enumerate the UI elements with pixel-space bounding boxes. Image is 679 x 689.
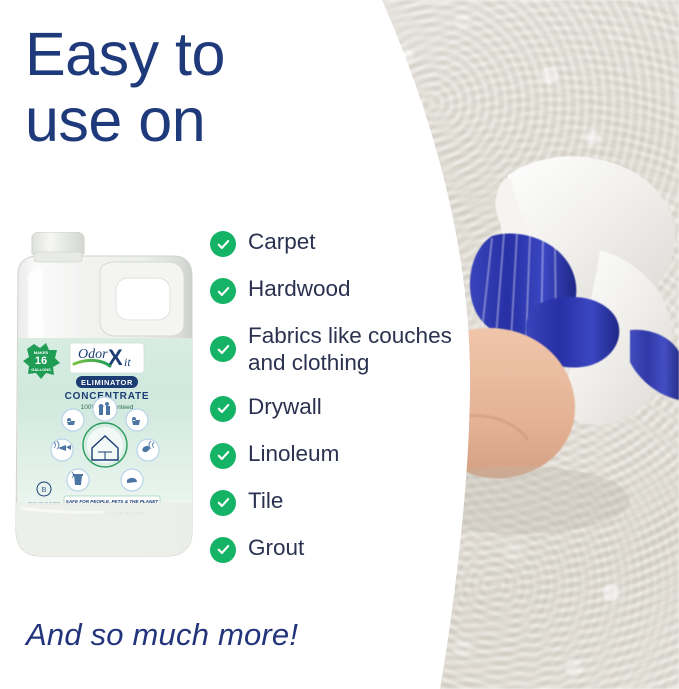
check-circle-icon [210,537,236,563]
list-item: Fabrics like couches and clothing [210,322,500,377]
badge-bottom-text: GALLONS [31,367,51,372]
brand-logo: Odor X it [70,343,144,373]
eliminator-text: ELIMINATOR [81,378,133,387]
list-item-label: Drywall [248,393,322,420]
list-item: Hardwood [210,275,500,304]
headline-line-2: use on [25,88,355,154]
b-mark-icon: B [42,486,47,494]
list-item: Linoleum [210,440,500,469]
list-item: Carpet [210,228,500,257]
brand-it-text: it [124,355,131,369]
list-item-label: Tile [248,487,283,514]
list-item: Drywall [210,393,500,422]
page-title: Easy to use on [25,22,355,154]
list-item-label: Linoleum [248,440,339,467]
badge-number-text: 16 [35,355,47,367]
list-item-label-line-2: and clothing [248,350,369,375]
check-circle-icon [210,490,236,516]
list-item-label: Hardwood [248,275,351,302]
bottle-cap [32,232,84,254]
headline-line-1: Easy to [25,22,355,88]
check-circle-icon [210,231,236,257]
handle-hole [116,278,170,320]
surfaces-list: Carpet Hardwood Fabrics like couches and… [210,228,500,581]
check-circle-icon [210,336,236,362]
tagline: And so much more! [26,617,298,653]
icon-pet [62,409,84,431]
bottle-neck-ring [34,252,82,262]
list-item: Tile [210,487,500,516]
list-item: Grout [210,534,500,563]
list-item-label-line-1: Fabrics like couches [248,323,452,348]
icon-people [93,397,117,421]
list-item-label: Fabrics like couches and clothing [248,322,452,377]
product-feature-graphic: Easy to use on Carpet Hardwood Fabrics l… [0,0,679,689]
check-circle-icon [210,278,236,304]
product-bottle: MAKES 16 GALLONS Odor X it ELIMINATOR CO… [4,232,196,562]
list-item-label: Grout [248,534,304,561]
check-circle-icon [210,443,236,469]
eliminator-badge: ELIMINATOR [76,376,138,388]
check-circle-icon [210,396,236,422]
list-item-label: Carpet [248,228,316,255]
